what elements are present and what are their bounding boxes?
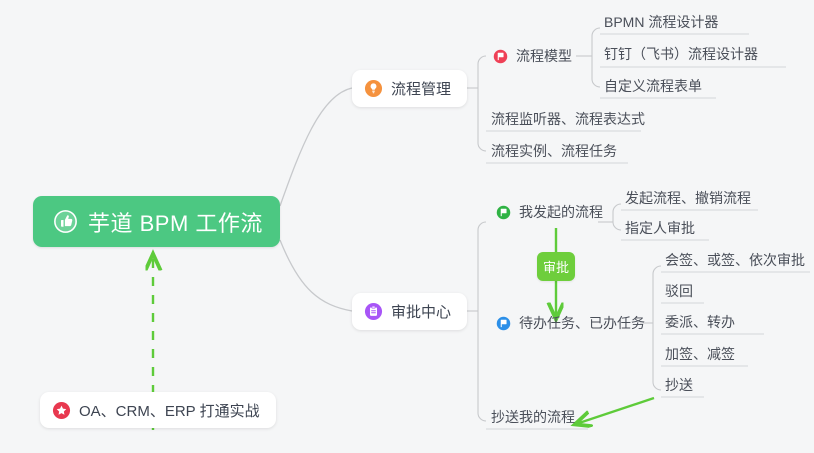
- node-label: 待办任务、已办任务: [519, 313, 645, 333]
- node-label: BPMN 流程设计器: [604, 12, 718, 32]
- node-label: 加签、减签: [665, 344, 735, 364]
- link-root-to-approval-center: [280, 240, 352, 311]
- node-reject[interactable]: 驳回: [663, 278, 699, 304]
- clipboard-icon: [364, 302, 383, 321]
- node-designated-approval[interactable]: 指定人审批: [623, 215, 701, 241]
- root-label: 芋道 BPM 工作流: [88, 206, 263, 238]
- node-process-management[interactable]: 流程管理: [352, 70, 467, 107]
- node-label: 委派、转办: [665, 312, 735, 332]
- node-process-instance[interactable]: 流程实例、流程任务: [489, 138, 623, 164]
- node-label: 驳回: [665, 281, 693, 301]
- node-cc-to-me[interactable]: 抄送我的流程: [489, 404, 581, 430]
- annotation-approve-tag[interactable]: 审批: [537, 252, 575, 281]
- node-label: 审批中心: [391, 301, 451, 322]
- node-approval-center[interactable]: 审批中心: [352, 293, 467, 330]
- link-process-model-bracket: [592, 28, 600, 87]
- node-cc[interactable]: 抄送: [663, 372, 699, 398]
- star-icon: [52, 401, 71, 420]
- link-process-management-bracket: [478, 56, 486, 151]
- link-my-started-bracket: [613, 204, 621, 230]
- root-node[interactable]: 芋道 BPM 工作流: [33, 196, 280, 247]
- node-label: 抄送我的流程: [491, 407, 575, 427]
- node-label: 流程管理: [391, 78, 451, 99]
- flag-green-icon: [496, 205, 511, 220]
- node-dingtalk-designer[interactable]: 钉钉（飞书）流程设计器: [602, 41, 764, 67]
- node-label: 我发起的流程: [519, 202, 603, 222]
- node-label: 抄送: [665, 375, 693, 395]
- lightbulb-icon: [364, 79, 383, 98]
- node-add-remove-sign[interactable]: 加签、减签: [663, 341, 741, 367]
- node-process-listener[interactable]: 流程监听器、流程表达式: [489, 106, 651, 132]
- node-my-started-process[interactable]: 我发起的流程: [494, 199, 609, 225]
- flag-red-icon: [493, 49, 508, 64]
- arrow-cc-to-my-process: [576, 398, 654, 424]
- node-label: 自定义流程表单: [604, 76, 702, 96]
- node-label: OA、CRM、ERP 打通实战: [79, 400, 260, 421]
- mindmap-canvas: 芋道 BPM 工作流 流程管理 流程模型 BPMN 流程设计器 钉钉（飞书）流程…: [0, 0, 814, 453]
- node-label: 流程模型: [516, 46, 572, 66]
- node-custom-form[interactable]: 自定义流程表单: [602, 73, 708, 99]
- node-process-model[interactable]: 流程模型: [491, 43, 578, 69]
- node-label: 流程监听器、流程表达式: [491, 109, 645, 129]
- link-root-to-process-management: [280, 88, 352, 206]
- flag-blue-icon: [496, 316, 511, 331]
- node-bpmn-designer[interactable]: BPMN 流程设计器: [602, 9, 724, 35]
- node-start-cancel-process[interactable]: 发起流程、撤销流程: [623, 185, 757, 211]
- annotation-label: 审批: [543, 257, 569, 276]
- node-countersign[interactable]: 会签、或签、依次审批: [663, 247, 811, 273]
- node-label: 钉钉（飞书）流程设计器: [604, 44, 758, 64]
- node-label: 流程实例、流程任务: [491, 141, 617, 161]
- node-label: 会签、或签、依次审批: [665, 250, 805, 270]
- thumbs-up-icon: [53, 209, 78, 234]
- node-label: 指定人审批: [625, 218, 695, 238]
- node-label: 发起流程、撤销流程: [625, 188, 751, 208]
- link-todo-tasks-bracket: [653, 266, 661, 390]
- link-approval-center-bracket: [478, 222, 486, 421]
- node-integration-practice[interactable]: OA、CRM、ERP 打通实战: [40, 392, 276, 428]
- node-todo-done-tasks[interactable]: 待办任务、已办任务: [494, 310, 651, 336]
- node-delegate-transfer[interactable]: 委派、转办: [663, 309, 741, 335]
